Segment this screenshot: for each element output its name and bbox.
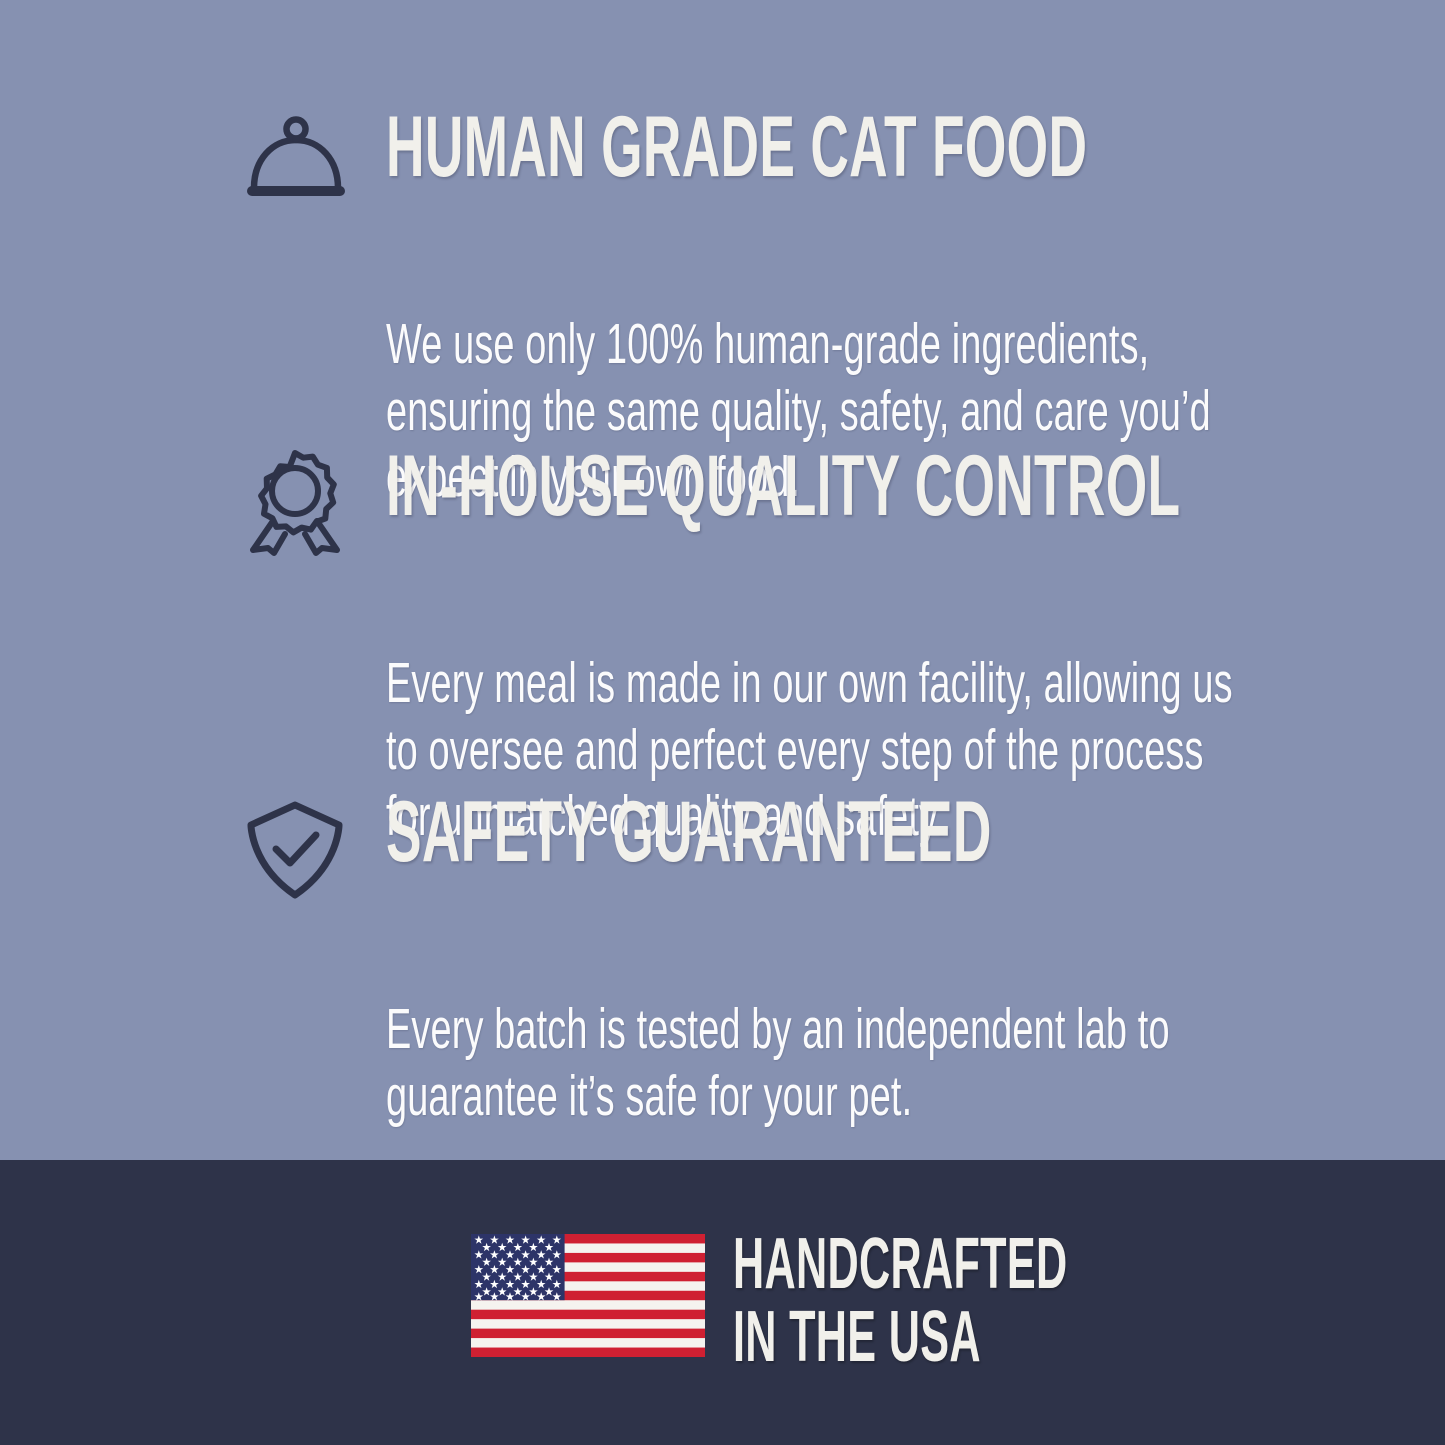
body-line: guarantee it’s safe for your pet. [386, 1063, 1058, 1130]
body-line: to oversee and perfect every step of the… [386, 717, 1058, 784]
body-line: Every batch is tested by an independent … [386, 996, 1058, 1063]
shield-check-icon [243, 799, 347, 901]
us-flag-icon [471, 1234, 705, 1357]
feature-heading: HUMAN GRADE CAT FOOD [386, 108, 1012, 187]
made-in-usa-badge: HANDCRAFTED IN THE USA [0, 1232, 1445, 1392]
body-line: ensuring the same quality, safety, and c… [386, 378, 1058, 445]
badge-line: HANDCRAFTED [733, 1228, 1067, 1301]
body-line: Every meal is made in our own facility, … [386, 650, 1058, 717]
marketing-infographic: HUMAN GRADE CAT FOOD We use only 100% hu… [0, 0, 1445, 1445]
feature-body: Every batch is tested by an independent … [386, 996, 1058, 1129]
body-line: We use only 100% human-grade ingredients… [386, 311, 1058, 378]
feature-text-column: SAFETY GUARANTEED Every batch is tested … [386, 793, 1396, 1129]
handcrafted-usa-label: HANDCRAFTED IN THE USA [733, 1228, 1067, 1375]
feature-heading: IN-HOUSE QUALITY CONTROL [386, 447, 1012, 526]
badge-line: IN THE USA [733, 1301, 1067, 1374]
cloche-dome-icon [238, 112, 354, 208]
award-rosette-icon [243, 449, 347, 557]
feature-heading: SAFETY GUARANTEED [386, 793, 1012, 872]
